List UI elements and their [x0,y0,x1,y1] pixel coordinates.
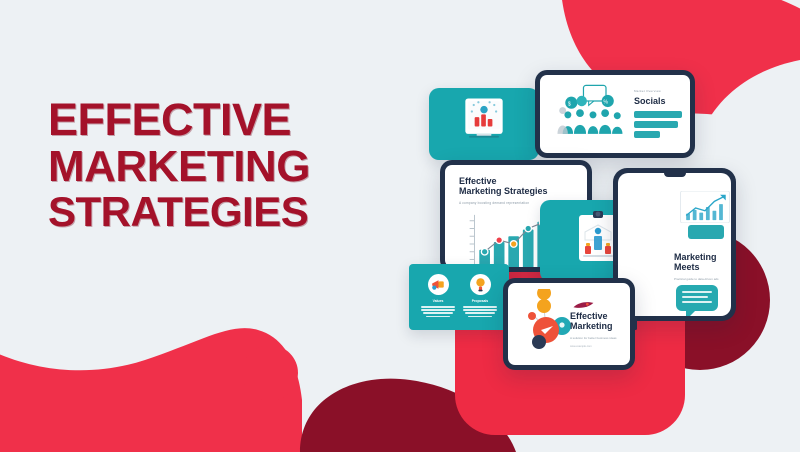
headline-line-2: MARKETING [48,144,378,191]
speech-bubble-icon [676,285,718,311]
feature-label: Proposals [463,299,497,303]
poster-canvas: EFFECTIVE MARKETING STRATEGIES [0,0,800,452]
tablet-right-subtitle: Practical guide to data-driven ads [674,277,731,281]
feature-label: Values [421,299,455,303]
laptop-bar-row [634,131,686,138]
headline-line-1: EFFECTIVE [48,96,378,144]
lightbulb-icon [470,274,491,295]
headline-line-3: STRATEGIES [48,190,378,235]
main-slide-title-line-2: Marketing Strategies [459,186,577,196]
tablet-bottom-screen: Effective Marketing A solution for bette… [508,283,630,365]
main-slide-title-line-1: Effective [459,176,577,186]
tablet-side-button[interactable] [634,316,637,330]
laptop-text-block: Market Overview Socials [634,89,686,138]
tablet-bottom-footnote: www.example.com [570,345,628,348]
feature-item[interactable]: Values [421,274,455,319]
laptop-mockup[interactable]: $ % Market Overview Socials [535,70,695,158]
tablet-infographic-illustration [456,94,512,144]
people-speech-bubbles-illustration: $ % [554,83,632,145]
network-circles-illustration [516,289,578,359]
tablet-right-title-line-2: Meets [674,263,731,273]
feature-item[interactable]: Proposals [463,274,497,319]
tablet-right-accent-block [688,225,724,239]
mini-growth-chart [680,191,730,223]
svg-text:%: % [603,100,608,106]
tablet-notch [664,173,686,177]
laptop-bar-row [634,121,686,128]
teal-card-device-illustration[interactable] [429,88,539,160]
megaphone-icon [428,274,449,295]
laptop-heading: Socials [634,96,686,106]
tablet-bottom-title-line-2: Marketing [570,322,628,332]
feature-lines [421,306,455,317]
page-title: EFFECTIVE MARKETING STRATEGIES [48,96,378,235]
rocket-icon [570,301,596,310]
tablet-bottom-subtitle: A solution for better business ideas [570,336,628,340]
tablet-right-title: Marketing Meets Practical guide to data-… [674,253,731,281]
laptop-screen: $ % Market Overview Socials [540,75,690,153]
tablet-mockup-bottom[interactable]: Effective Marketing A solution for bette… [503,278,635,370]
tablet-bottom-title: Effective Marketing A solution for bette… [570,301,628,348]
svg-text:$: $ [568,101,571,107]
teal-card-two-features[interactable]: Values Proposals [409,264,509,330]
feature-lines [463,306,497,317]
laptop-bar-row [634,111,686,118]
red-dot [242,345,298,401]
laptop-eyebrow: Market Overview [634,89,686,93]
